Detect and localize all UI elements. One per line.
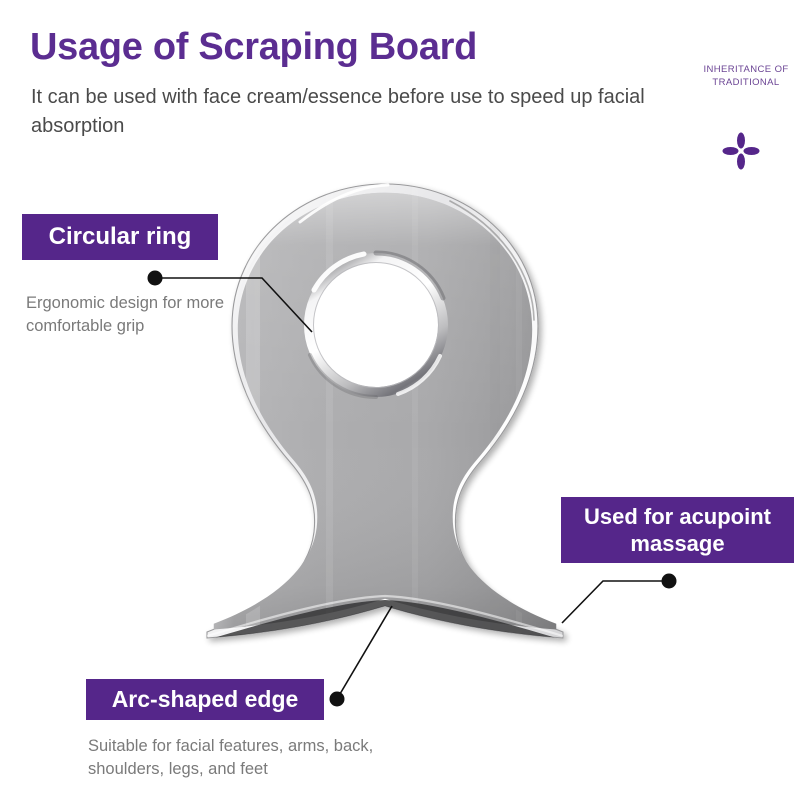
callout-label-circular-ring[interactable]: Circular ring xyxy=(22,214,218,260)
callout-label-acupoint-massage[interactable]: Used for acupoint massage xyxy=(561,497,794,563)
callout-label-arc-shaped-edge[interactable]: Arc-shaped edge xyxy=(86,679,324,720)
four-petal-flower-icon xyxy=(722,132,760,170)
callout-description-circular-ring: Ergonomic design for more comfortable gr… xyxy=(26,292,241,339)
infographic-page: Usage of Scraping Board It can be used w… xyxy=(0,0,800,800)
page-subtitle: It can be used with face cream/essence b… xyxy=(31,83,671,141)
callout-description-arc-shaped-edge: Suitable for facial features, arms, back… xyxy=(88,735,418,782)
page-title: Usage of Scraping Board xyxy=(30,28,477,68)
brand-tagline: INHERITANCE OF TRADITIONAL xyxy=(700,64,792,90)
product-image-scraping-board xyxy=(150,170,620,660)
